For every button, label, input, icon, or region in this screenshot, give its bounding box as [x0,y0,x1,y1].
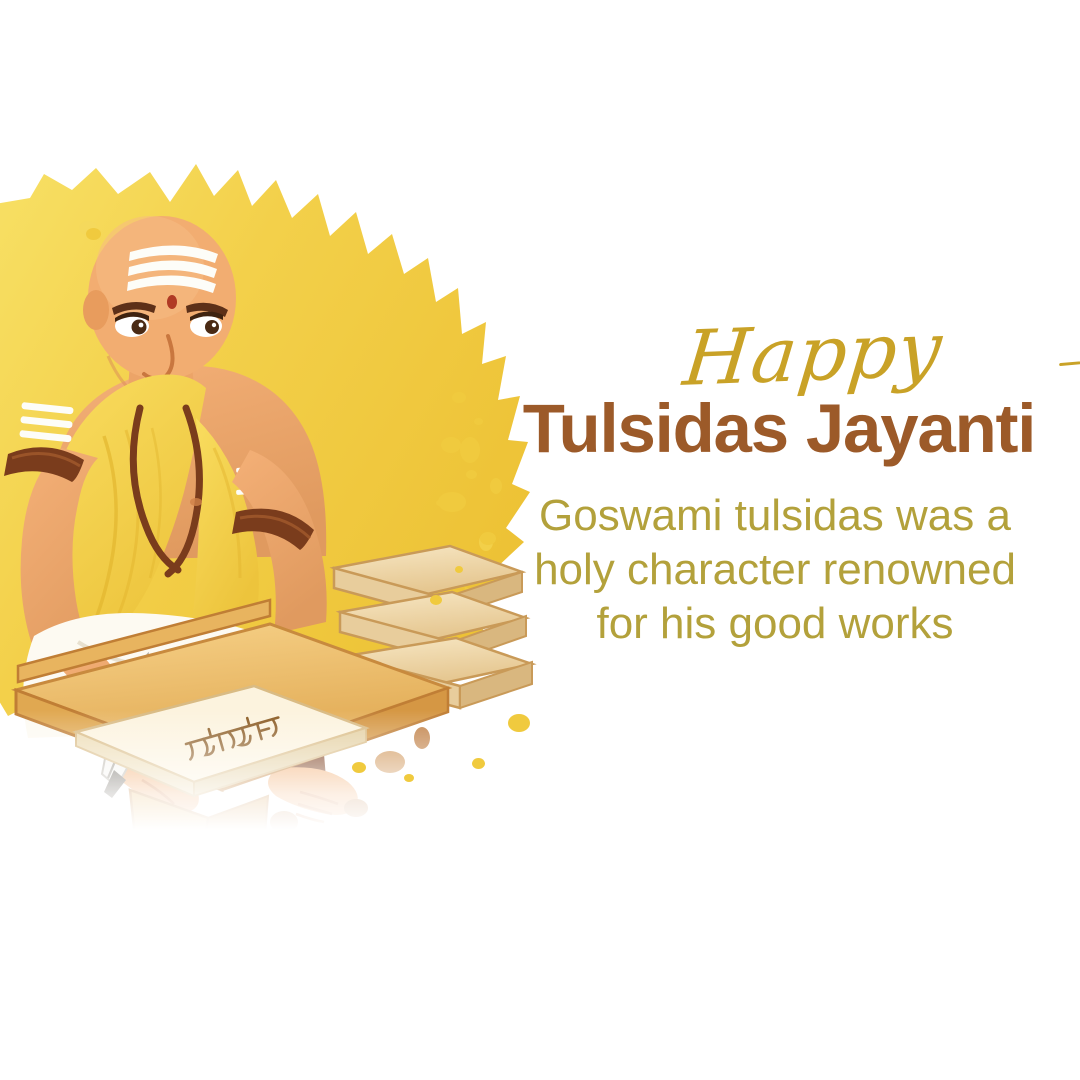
greeting-text-block: Happy Tulsidas Jayanti Goswami tulsidas … [470,318,1080,650]
arm-tripundra [19,402,73,442]
page-title: Tulsidas Jayanti [474,394,1080,463]
paint-splatter-dot [441,437,461,453]
paint-splatter-dot [404,774,414,782]
ear [83,290,109,330]
paint-splatter-dot [352,762,366,773]
bindu [167,295,177,309]
paint-splatter-dot [466,470,477,479]
paint-splatter-dot [508,714,530,732]
paint-splatter-dot [480,532,496,545]
paint-splatter-dot [474,418,483,425]
description-text: Goswami tulsidas was a holy character re… [470,489,1080,650]
paint-splatter-dot [436,500,443,506]
paint-splatter-dot [472,758,485,769]
happy-script-word: Happy [503,306,1080,402]
greeting-card-canvas: Happy Tulsidas Jayanti Goswami tulsidas … [0,0,1080,1080]
paint-splatter-dot [455,566,463,573]
paint-splatter-dot [452,392,466,403]
paint-splatter-dot [86,228,101,240]
paint-splatter-dot [430,595,442,605]
